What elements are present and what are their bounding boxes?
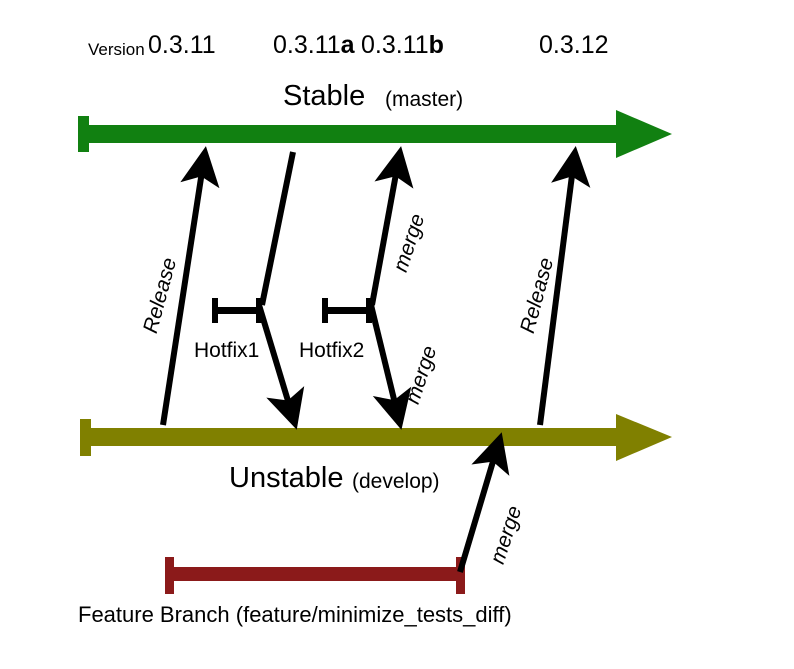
stable-arrowhead [616,110,672,158]
stable-shaft [78,125,616,143]
stable-branch-line [78,110,672,158]
version-label-2: 0.3.11b [361,33,444,58]
hotfix1-branch-line [212,298,262,323]
feature-branch-line [165,557,465,594]
version-label-2-suffix: b [429,31,444,59]
version-label-1: 0.3.11a [273,33,355,58]
version-label-1-suffix: a [341,31,355,59]
connector-hotfix1-down [259,305,295,424]
unstable-branch-line [80,414,672,461]
hotfix2-branch-line [322,298,372,323]
unstable-branch-title: Unstable [229,464,343,493]
feature-shaft [165,567,465,581]
feature-branch-label: Feature Branch (feature/minimize_tests_d… [78,604,512,626]
hotfix2-label: Hotfix2 [299,340,364,361]
hotfix1-shaft [212,307,262,314]
stable-branch-title: Stable [283,82,365,111]
unstable-branch-ref: (develop) [352,471,440,492]
version-label-1-base: 0.3.11 [273,31,341,59]
version-label-0-base: 0.3.11 [148,31,216,59]
connector-merge-down [371,305,400,424]
hotfix2-shaft [322,307,372,314]
version-label-2-base: 0.3.11 [361,31,429,59]
version-caption: Version [88,41,145,58]
version-label-3-base: 0.3.12 [539,31,609,59]
version-label-3: 0.3.12 [539,33,609,58]
version-label-0: 0.3.11 [148,33,216,58]
hotfix1-label: Hotfix1 [194,340,259,361]
unstable-arrowhead [616,414,672,461]
stable-branch-ref: (master) [385,89,463,110]
gitflow-diagram: Version 0.3.11 0.3.11a 0.3.11b 0.3.12 St… [0,0,794,669]
unstable-shaft [80,428,616,446]
connector-merge-up [372,152,400,305]
connector-hotfix1-up [262,152,293,305]
